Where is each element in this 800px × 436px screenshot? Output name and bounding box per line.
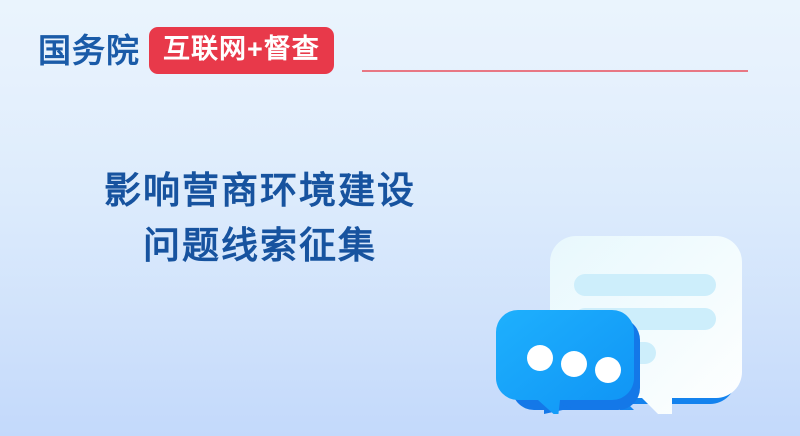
internet-plus-supervision-badge: 互联网+督查 xyxy=(149,27,334,74)
bubble-bar-1 xyxy=(574,274,716,296)
page-title-line-2: 问题线索征集 xyxy=(0,218,520,273)
gov-logo-text: 国务院 xyxy=(38,34,140,67)
page-title-line-1: 影响营商环境建设 xyxy=(0,163,520,218)
header-divider-rule xyxy=(362,70,748,72)
campaign-banner: 国务院 互联网+督查 影响营商环境建设 问题线索征集 xyxy=(0,0,800,436)
brand-header: 国务院 互联网+督查 xyxy=(38,24,334,76)
bubble-dot-2 xyxy=(561,351,587,377)
bubble-dot-1 xyxy=(527,345,553,371)
bubble-dot-3 xyxy=(595,357,621,383)
speech-bubbles-illustration xyxy=(488,214,748,414)
page-title: 影响营商环境建设 问题线索征集 xyxy=(0,163,520,273)
